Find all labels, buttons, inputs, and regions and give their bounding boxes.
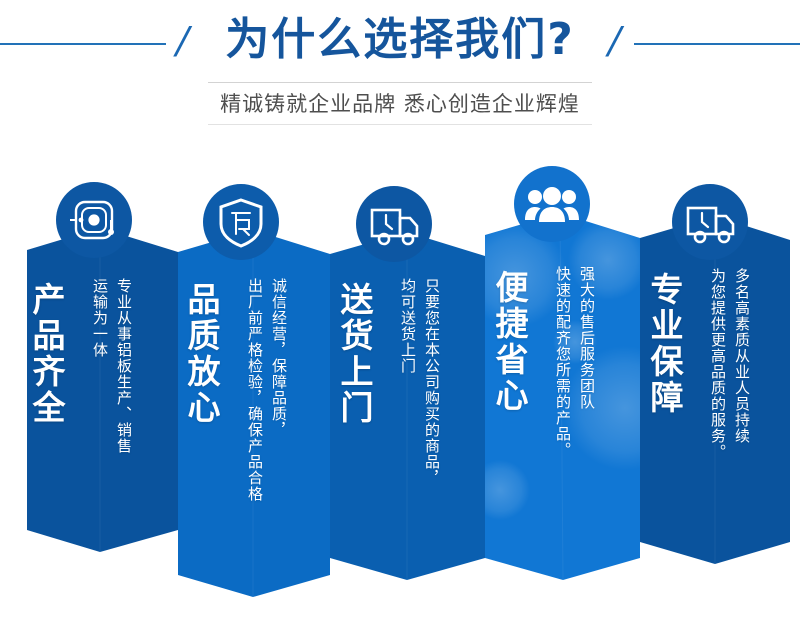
panel-5-description: 多名高素质从业人员持续 为您提供更高品质的服务。 (706, 268, 754, 538)
panel-5-icon-badge (672, 184, 748, 260)
panel-4-title: 便捷省心 (491, 270, 527, 460)
feature-panel-band: 产品齐全 专业从事铝板生产、销售 运输为一体 品质放心 诚信经营，保障品质， 出… (0, 160, 800, 640)
product-chip-icon (56, 182, 132, 258)
panel-2-icon-badge (203, 184, 279, 260)
delivery-truck-icon (356, 186, 432, 262)
team-people-icon (514, 166, 590, 242)
page-title: 为什么选择我们? (0, 14, 800, 66)
panel-4-icon-badge (514, 166, 590, 242)
panel-4-description: 强大的售后服务团队 快速的配齐您所需的产品。 (551, 266, 599, 546)
panel-3-title: 送货上门 (336, 282, 372, 472)
delivery-truck-icon (672, 184, 748, 260)
page-subtitle: 精诚铸就企业品牌 悉心创造企业辉煌 (0, 88, 800, 120)
banner-header: / / 为什么选择我们? 精诚铸就企业品牌 悉心创造企业辉煌 (0, 0, 800, 160)
panel-1-title: 产品齐全 (28, 282, 64, 472)
panel-2-title: 品质放心 (183, 282, 219, 472)
panel-1-description: 专业从事铝板生产、销售 运输为一体 (88, 278, 136, 508)
panel-2-description: 诚信经营，保障品质， 出厂前严格检验，确保产品合格 (243, 278, 291, 568)
panel-3-icon-badge (356, 186, 432, 262)
panel-1-icon-badge (56, 182, 132, 258)
quality-shield-icon (203, 184, 279, 260)
panel-3-description: 只要您在本公司购买的商品， 均可送货上门 (396, 278, 444, 548)
subtitle-rule-top (208, 82, 592, 83)
promo-banner: / / 为什么选择我们? 精诚铸就企业品牌 悉心创造企业辉煌 (0, 0, 800, 640)
panel-5-title: 专业保障 (646, 272, 682, 462)
subtitle-rule-bottom (208, 124, 592, 125)
